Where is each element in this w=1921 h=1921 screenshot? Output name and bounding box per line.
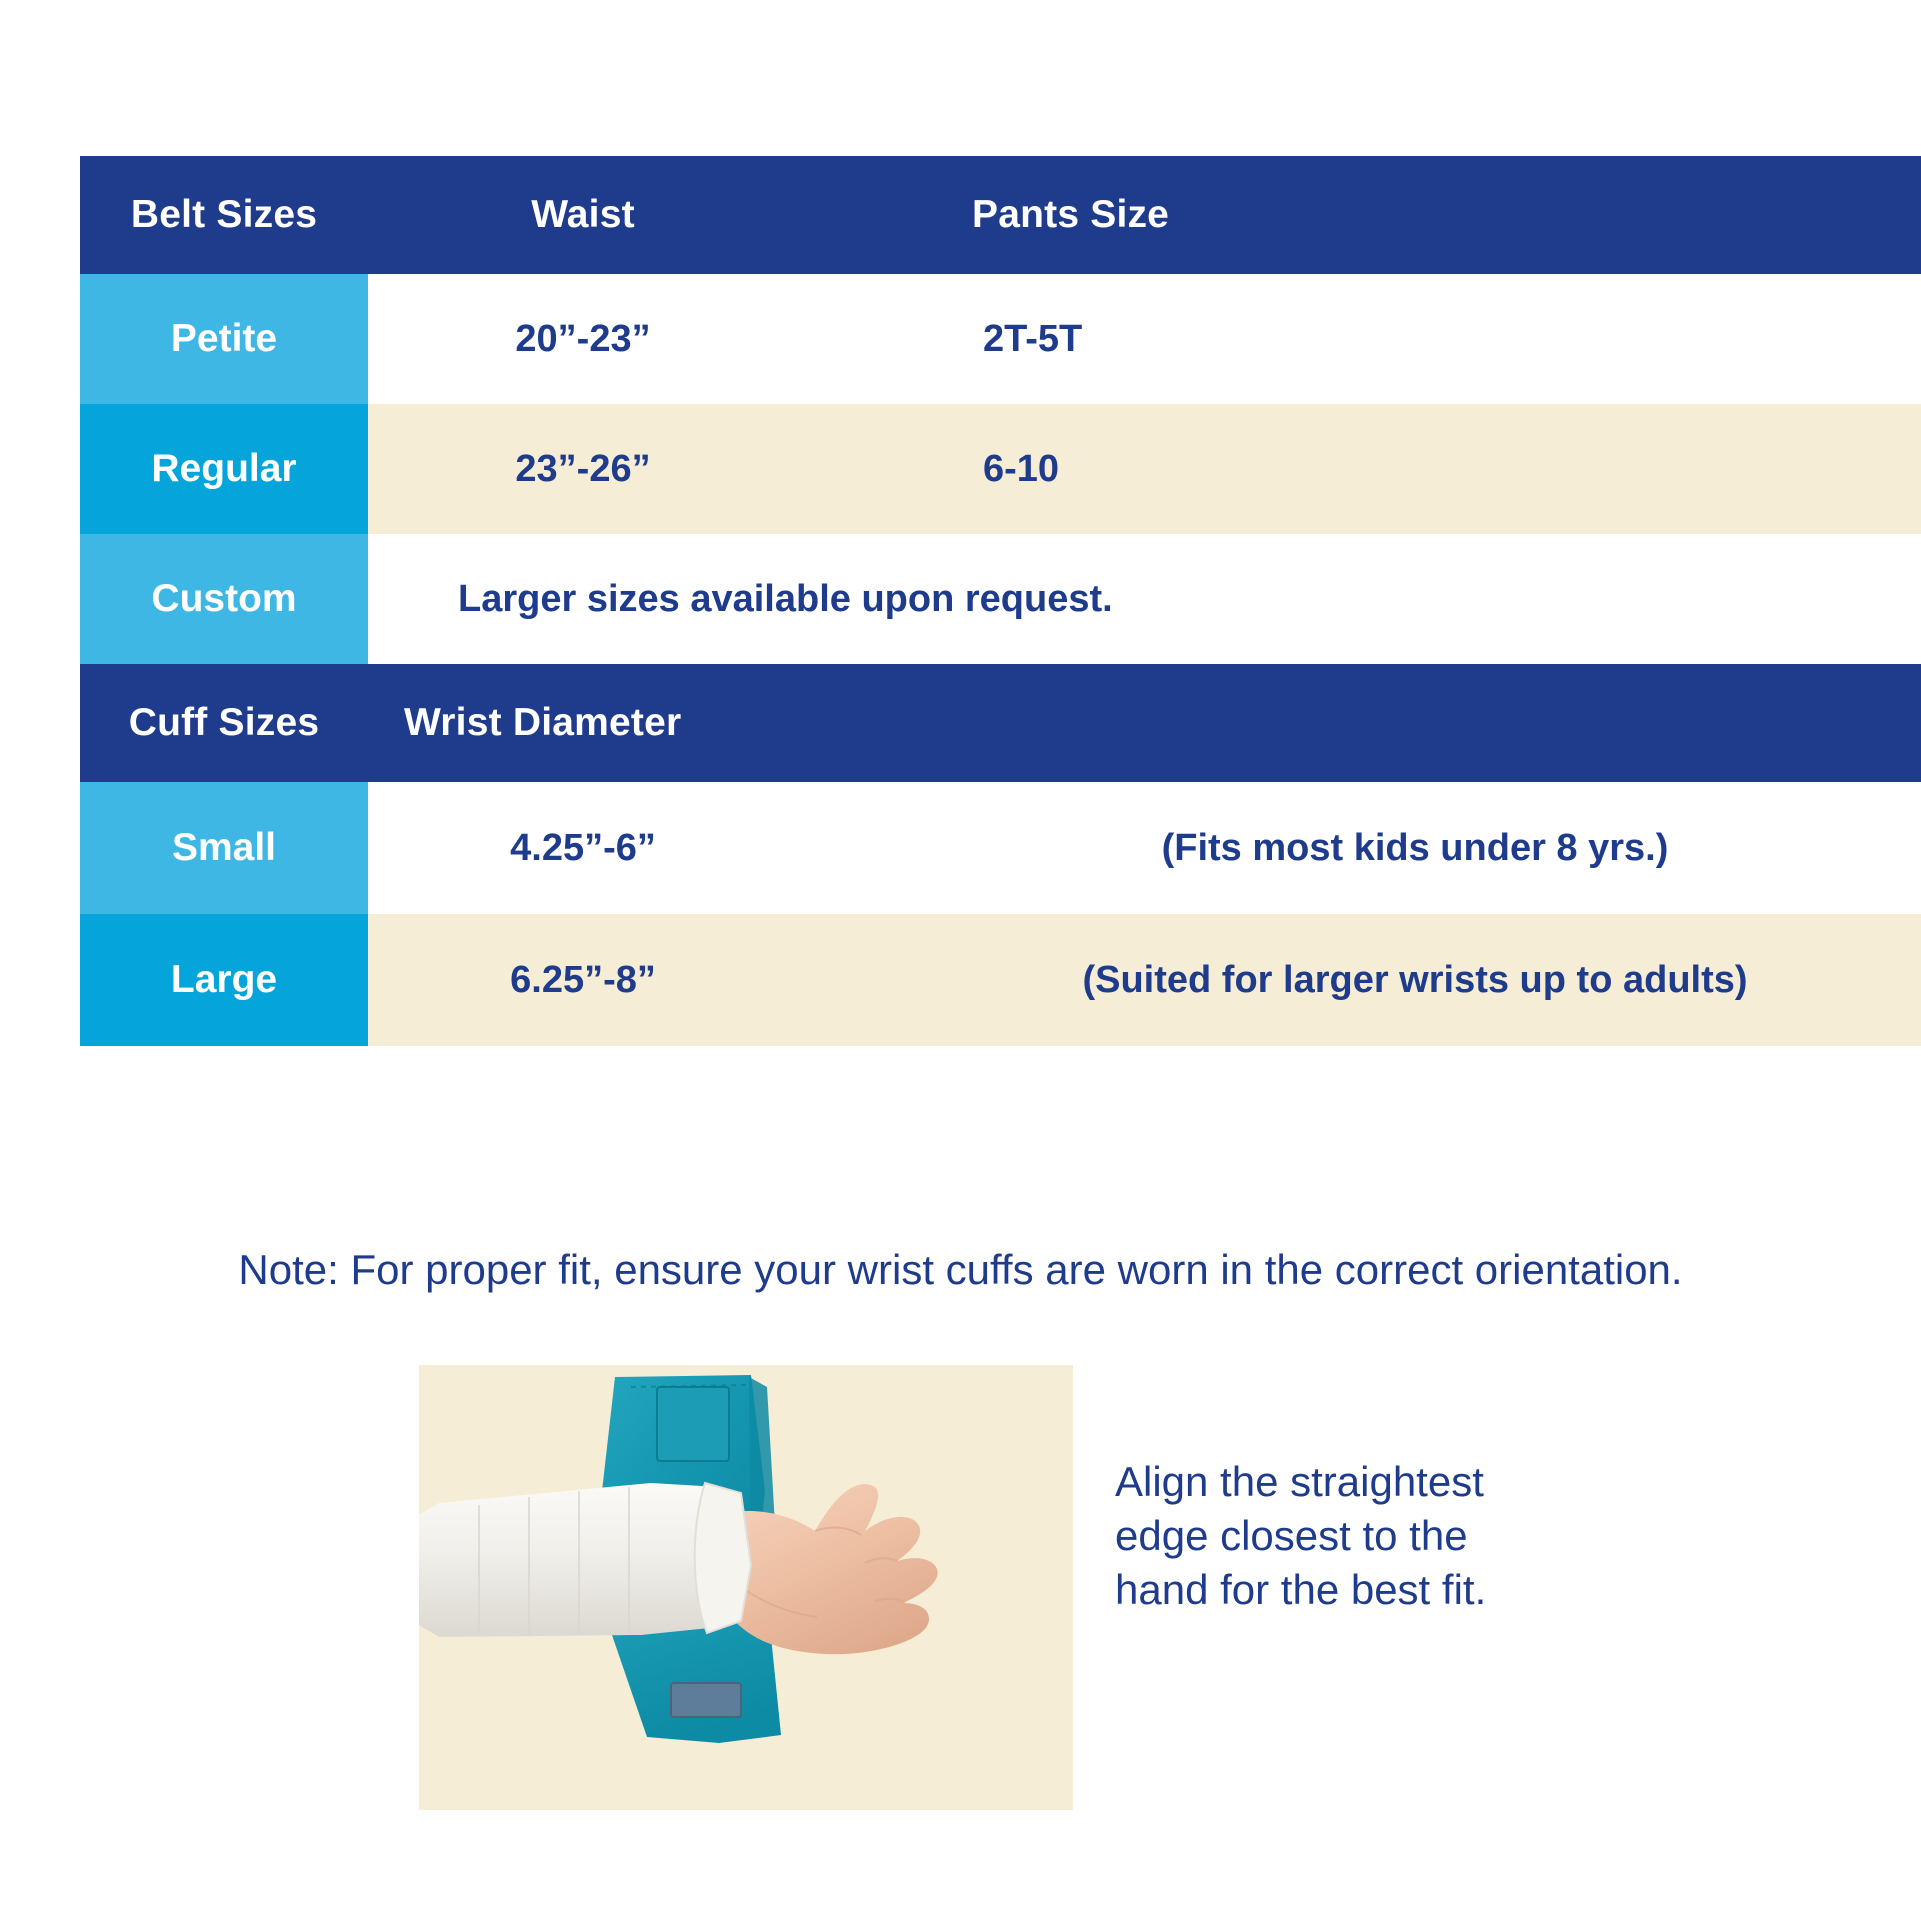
cuff-small-diameter: 4.25”-6” bbox=[368, 782, 798, 914]
table-row: Large 6.25”-8” (Suited for larger wrists… bbox=[80, 914, 1921, 1046]
sizing-table: Belt Sizes Waist Pants Size Petite 20”-2… bbox=[80, 156, 1921, 1046]
belt-petite-pants: 2T-5T bbox=[798, 274, 1921, 404]
belt-regular-waist: 23”-26” bbox=[368, 404, 798, 534]
sleeve-cuff-edge bbox=[695, 1483, 751, 1633]
table-row: Regular 23”-26” 6-10 bbox=[80, 404, 1921, 534]
table-row: Petite 20”-23” 2T-5T bbox=[80, 274, 1921, 404]
wrist-diameter-header: Wrist Diameter bbox=[368, 664, 798, 782]
cuff-size-large-label: Large bbox=[80, 914, 368, 1046]
belt-regular-pants: 6-10 bbox=[798, 404, 1921, 534]
belt-petite-waist: 20”-23” bbox=[368, 274, 798, 404]
velcro-patch-top bbox=[657, 1387, 729, 1461]
photo-caption: Align the straightest edge closest to th… bbox=[1115, 1455, 1675, 1616]
belt-sizes-header: Belt Sizes bbox=[80, 156, 368, 274]
cuff-sizes-header: Cuff Sizes bbox=[80, 664, 368, 782]
table-row: Custom Larger sizes available upon reque… bbox=[80, 534, 1921, 664]
arm-with-cuff-illustration bbox=[419, 1365, 1073, 1810]
belt-size-petite-label: Petite bbox=[80, 274, 368, 404]
sizing-chart-page: Belt Sizes Waist Pants Size Petite 20”-2… bbox=[0, 0, 1921, 1921]
velcro-patch-bottom bbox=[671, 1683, 741, 1717]
belt-size-custom-label: Custom bbox=[80, 534, 368, 664]
table-row: Small 4.25”-6” (Fits most kids under 8 y… bbox=[80, 782, 1921, 914]
cuff-size-small-label: Small bbox=[80, 782, 368, 914]
waist-header: Waist bbox=[368, 156, 798, 274]
cuff-header-spacer bbox=[798, 664, 1921, 782]
belt-header-row: Belt Sizes Waist Pants Size bbox=[80, 156, 1921, 274]
cuff-small-note: (Fits most kids under 8 yrs.) bbox=[798, 782, 1921, 914]
cuff-large-note: (Suited for larger wrists up to adults) bbox=[798, 914, 1921, 1046]
caption-line-3: hand for the best fit. bbox=[1115, 1563, 1675, 1617]
fit-orientation-note: Note: For proper fit, ensure your wrist … bbox=[0, 1246, 1921, 1294]
pants-size-header: Pants Size bbox=[798, 156, 1921, 274]
caption-line-1: Align the straightest bbox=[1115, 1455, 1675, 1509]
cuff-large-diameter: 6.25”-8” bbox=[368, 914, 798, 1046]
cuff-orientation-photo bbox=[419, 1365, 1073, 1810]
caption-line-2: edge closest to the bbox=[1115, 1509, 1675, 1563]
belt-custom-note: Larger sizes available upon request. bbox=[368, 534, 1921, 664]
belt-size-regular-label: Regular bbox=[80, 404, 368, 534]
cuff-header-row: Cuff Sizes Wrist Diameter bbox=[80, 664, 1921, 782]
